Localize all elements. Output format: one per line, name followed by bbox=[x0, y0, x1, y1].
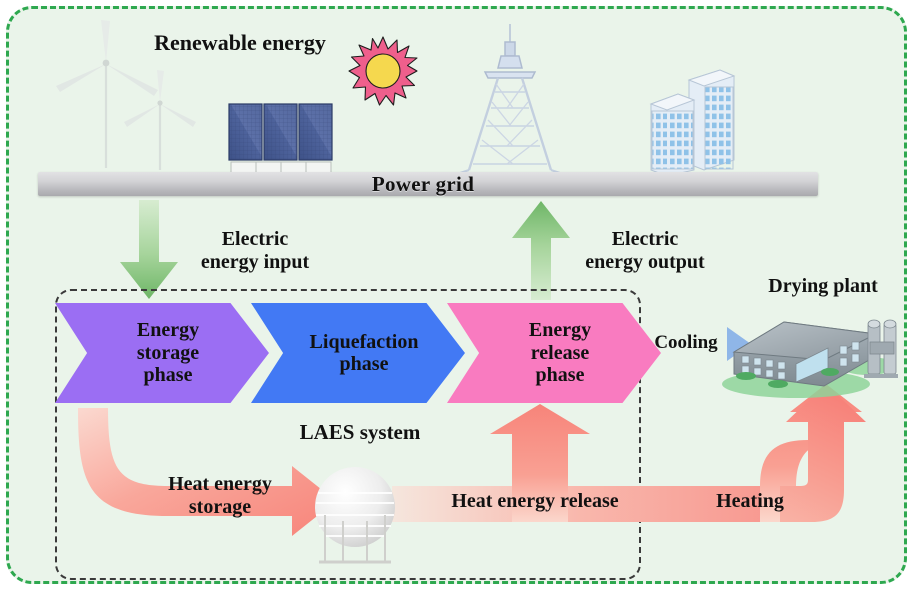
phase-energy-release-label: Energy release phase bbox=[529, 319, 591, 386]
laes-system-label: LAES system bbox=[255, 420, 465, 444]
buildings-icon bbox=[648, 58, 738, 176]
phase-energy-storage[interactable]: Energy storage phase bbox=[55, 303, 269, 403]
power-grid-label: Power grid bbox=[333, 171, 513, 197]
heating-label: Heating bbox=[690, 490, 810, 513]
phase-energy-storage-label: Energy storage phase bbox=[137, 319, 199, 386]
phase-liquefaction[interactable]: Liquefaction phase bbox=[251, 303, 465, 403]
heat-energy-storage-label: Heat energy storage bbox=[135, 473, 305, 519]
heat-storage-text: Heat energy storage bbox=[168, 473, 272, 518]
electric-energy-output-label: Electric energy output bbox=[555, 228, 735, 274]
transmission-tower-icon bbox=[455, 22, 565, 177]
phase-energy-release[interactable]: Energy release phase bbox=[447, 303, 661, 403]
electric-energy-input-label: Electric energy input bbox=[165, 228, 345, 274]
drying-plant-icon bbox=[718, 300, 898, 400]
solar-panel-icon bbox=[228, 103, 336, 175]
phase-liquefaction-label: Liquefaction phase bbox=[310, 331, 419, 376]
renewable-energy-label: Renewable energy bbox=[120, 30, 360, 56]
drying-plant-label: Drying plant bbox=[733, 275, 913, 298]
diagram-canvas: Power grid Renewable energy Electric ene… bbox=[0, 0, 921, 596]
storage-tank-icon bbox=[305, 463, 405, 568]
electric-input-line1: Electric energy input bbox=[201, 228, 309, 273]
heat-energy-release-label: Heat energy release bbox=[415, 490, 655, 513]
electric-output-line1: Electric energy output bbox=[585, 228, 704, 273]
